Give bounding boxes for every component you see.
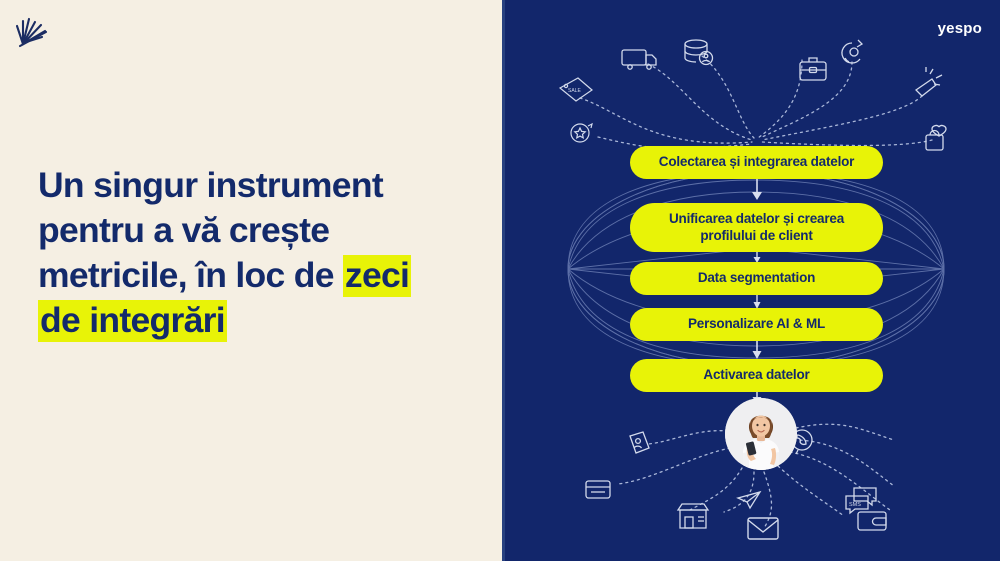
starburst-icon <box>12 14 52 54</box>
flow-step-2[interactable]: Unificarea datelor și crearea profilului… <box>630 203 883 252</box>
flow-arrow-1 <box>750 179 764 201</box>
flow-step-4[interactable]: Personalizare AI & ML <box>630 308 883 341</box>
avatar <box>725 398 797 470</box>
flow-step-1[interactable]: Colectarea și integrarea datelor <box>630 146 883 179</box>
headline-line-3: metricile, în loc de zeci <box>38 253 468 298</box>
headline-line-2: pentru a vă crește <box>38 208 468 253</box>
flow-step-label: Personalizare AI & ML <box>688 316 825 333</box>
page-title: Un singur instrument pentru a vă crește … <box>38 163 468 343</box>
headline-text: metricile, în loc de <box>38 255 343 295</box>
left-panel: Un singur instrument pentru a vă crește … <box>0 0 502 561</box>
flow-step-label: Unificarea datelor și crearea <box>669 211 844 228</box>
flow-step-label: Colectarea și integrarea datelor <box>659 154 854 171</box>
headline-highlight: de integrări <box>38 300 227 342</box>
headline-highlight: zeci <box>343 255 411 297</box>
headline-text: Un singur instrument <box>38 165 383 205</box>
flow-arrow-4 <box>750 341 764 360</box>
flow-step-label-2: profilului de client <box>669 228 844 245</box>
flow-step-label: Data segmentation <box>698 270 815 287</box>
slide-canvas: Un singur instrument pentru a vă crește … <box>0 0 1000 561</box>
right-panel: yespo <box>502 0 1000 561</box>
data-flow-diagram: Colectarea și integrarea datelor Unifica… <box>502 0 1000 561</box>
flow-step-3[interactable]: Data segmentation <box>630 262 883 295</box>
flow-step-label: Activarea datelor <box>703 367 809 384</box>
flow-step-5[interactable]: Activarea datelor <box>630 359 883 392</box>
headline-text: pentru a vă crește <box>38 210 329 250</box>
headline-line-1: Un singur instrument <box>38 163 468 208</box>
headline-line-4: de integrări <box>38 298 468 343</box>
